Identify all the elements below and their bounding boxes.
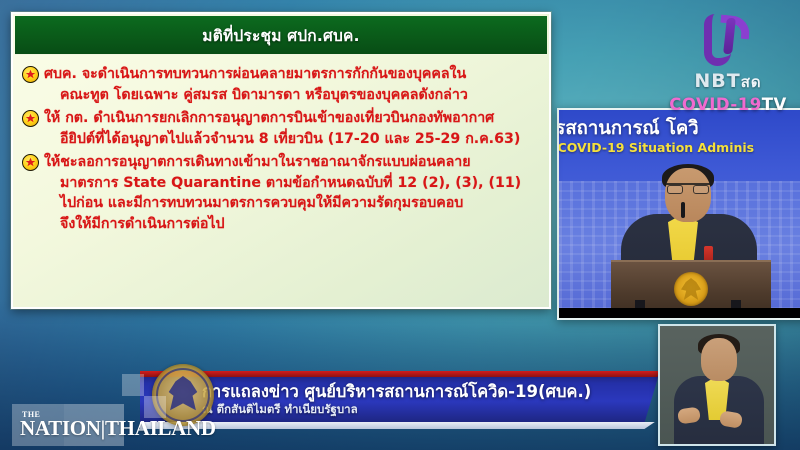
bullet-line: ศบค. จะดำเนินการทบทวนการผ่อนคลายมาตรการก…	[44, 64, 539, 85]
bullet-line: คณะทูต โดยเฉพาะ คู่สมรส บิดามารดา หรือบุ…	[44, 85, 539, 106]
information-slide-panel: มติที่ประชุม ศปก.ศบค. ศบค. จะดำเนินการทบ…	[11, 12, 551, 309]
nbt-wordmark: NBTสด	[668, 70, 788, 94]
bullet-line: อียิปต์ที่ได้อนุญาตไปแล้วจำนวน 8 เที่ยวบ…	[44, 129, 539, 150]
backdrop-title-thai: ารสถานการณ์ โควิ	[559, 114, 800, 143]
nbt-letters: NBT	[694, 70, 740, 92]
covid-tv-label: COVID-19TV	[668, 95, 788, 114]
speaker-glasses-icon	[666, 183, 710, 192]
banner-white-stripe	[140, 422, 660, 429]
interpreter-head	[701, 338, 737, 381]
garuda-emblem-icon	[674, 272, 708, 306]
backdrop-subtitle-english: r COVID-19 Situation Adminis	[559, 140, 800, 155]
lower-third-banner: การแถลงข่าว ศูนย์บริหารสถานการณ์โควิด-19…	[140, 371, 660, 423]
watermark-name: NATION|THAILAND	[20, 416, 216, 441]
microphone-icon	[681, 202, 685, 218]
slide-title: มติที่ประชุม ศปก.ศบค.	[202, 23, 359, 48]
bullet-line: ไปก่อน และมีการทบทวนมาตรการควบคุมให้มีคว…	[44, 193, 539, 214]
list-item: ให้ชะลอการอนุญาตการเดินทางเข้ามาในราชอาณ…	[22, 152, 539, 234]
speaker-head	[665, 168, 711, 222]
red-star-bullet-icon	[22, 66, 39, 83]
banner-red-stripe	[140, 371, 660, 377]
red-star-bullet-icon	[22, 154, 39, 171]
tv-text: TV	[762, 95, 787, 114]
list-item-text: ให้ กต. ดำเนินการยกเลิกการอนุญาตการบินเข…	[44, 108, 539, 149]
press-conference-video-feed: ารสถานการณ์ โควิ r COVID-19 Situation Ad…	[557, 108, 800, 320]
nation-thailand-watermark: THE NATION|THAILAND	[12, 374, 202, 446]
slide-bullet-list: ศบค. จะดำเนินการทบทวนการผ่อนคลายมาตรการก…	[13, 55, 549, 234]
broadcast-screen: ารสถานการณ์ โควิ r COVID-19 Situation Ad…	[0, 0, 800, 450]
sign-language-interpreter-inset	[658, 324, 776, 446]
channel-logo: NBTสด COVID-19TV	[668, 14, 788, 114]
bullet-line: มาตรการ State Quarantine ตามข้อกำหนดฉบับ…	[44, 173, 539, 194]
bullet-line: ให้ กต. ดำเนินการยกเลิกการอนุญาตการบินเข…	[44, 108, 539, 129]
list-item: ศบค. จะดำเนินการทบทวนการผ่อนคลายมาตรการก…	[22, 64, 539, 105]
video-letterbox-bar	[559, 308, 800, 318]
list-item-text: ศบค. จะดำเนินการทบทวนการผ่อนคลายมาตรการก…	[44, 64, 539, 105]
covid-text: COVID-19	[669, 95, 761, 114]
list-item-text: ให้ชะลอการอนุญาตการเดินทางเข้ามาในราชอาณ…	[44, 152, 539, 234]
nbt-logo-mark-icon	[698, 14, 758, 68]
bullet-line: ให้ชะลอการอนุญาตการเดินทางเข้ามาในราชอาณ…	[44, 152, 539, 173]
live-label: สด	[741, 73, 762, 91]
bullet-line: จึงให้มีการดำเนินการต่อไป	[44, 214, 539, 235]
list-item: ให้ กต. ดำเนินการยกเลิกการอนุญาตการบินเข…	[22, 108, 539, 149]
slide-header-bar: มติที่ประชุม ศปก.ศบค.	[15, 16, 547, 55]
banner-subtitle: ณ ตึกสันติไมตรี ทำเนียบรัฐบาล	[202, 401, 652, 419]
watermark-square	[122, 374, 144, 396]
watermark-square	[144, 396, 166, 418]
red-star-bullet-icon	[22, 110, 39, 127]
